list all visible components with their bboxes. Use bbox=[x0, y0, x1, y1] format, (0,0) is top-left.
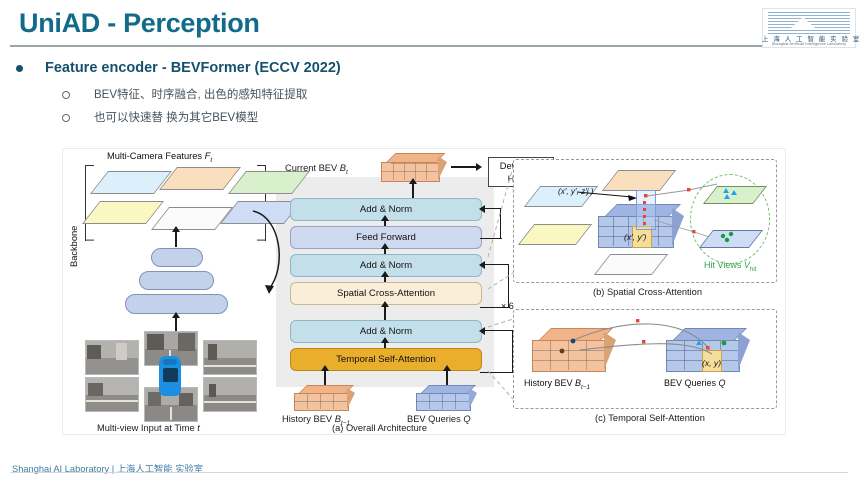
bullet-level2-1-text: BEV特征、时序融合, 出色的感知特征提取 bbox=[94, 86, 307, 102]
bevformer-figure: Multi-Camera Features Ft Backbone bbox=[62, 148, 786, 435]
panel-leader-lines bbox=[63, 149, 785, 434]
bullet-level2-2: 也可以快速替 换为其它BEV模型 bbox=[62, 109, 258, 125]
logo-en-text: Shanghai Artificial Intelligence Laborat… bbox=[762, 42, 856, 46]
bullet-dot-icon bbox=[16, 65, 23, 72]
page-title: UniAD - Perception bbox=[19, 8, 260, 39]
bullet-ring-icon bbox=[62, 91, 70, 99]
bullet-level2-1: BEV特征、时序融合, 出色的感知特征提取 bbox=[62, 86, 307, 102]
title-divider bbox=[10, 45, 848, 47]
bullet-ring-icon bbox=[62, 114, 70, 122]
bullet-level1-text: Feature encoder - BEVFormer (ECCV 2022) bbox=[45, 60, 341, 76]
footer-divider bbox=[10, 472, 848, 473]
logo-mountain-icon bbox=[790, 17, 816, 29]
bullet-level2-2-text: 也可以快速替 换为其它BEV模型 bbox=[94, 109, 258, 125]
shanghai-ai-lab-logo: 上 海 人 工 智 能 实 验 室 Shanghai Artificial In… bbox=[762, 8, 856, 48]
slide-root: UniAD - Perception 上 海 人 工 智 能 实 验 室 Sha… bbox=[0, 0, 866, 488]
bullet-level1: Feature encoder - BEVFormer (ECCV 2022) bbox=[16, 60, 776, 76]
